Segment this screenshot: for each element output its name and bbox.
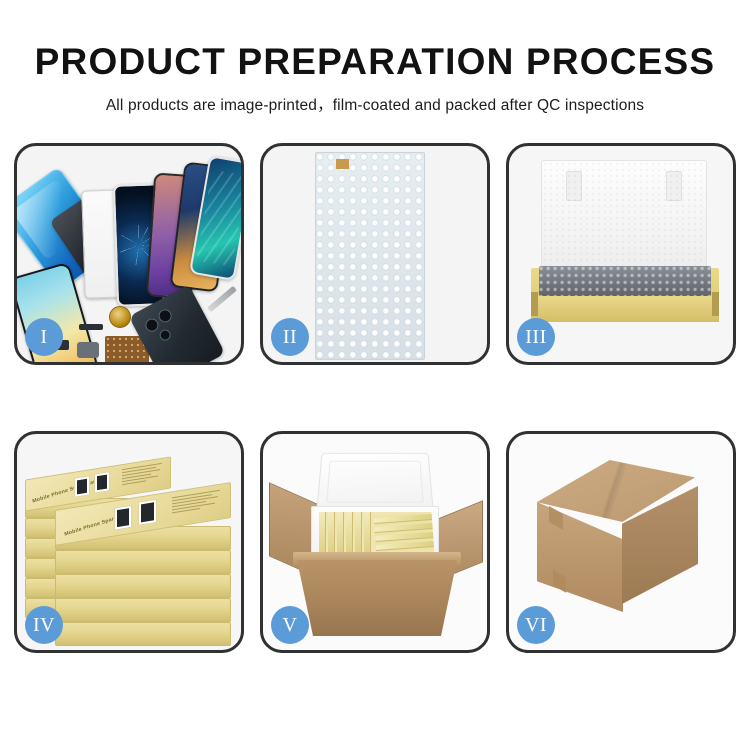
stacked-box [55,574,231,598]
step-badge-2: II [271,318,309,356]
process-step-card-3: III [506,143,736,365]
page-subtitle: All products are image-printed，film-coat… [0,93,750,115]
process-step-grid: I II [14,143,736,675]
header: PRODUCT PREPARATION PROCESS All products… [0,0,750,115]
styrofoam-lid [316,453,434,512]
step-badge-6: VI [517,606,555,644]
small-part [79,324,103,330]
bubble-wrap-bag [315,152,425,360]
small-part [77,342,99,358]
seal-tape [336,159,349,169]
page-title: PRODUCT PREPARATION PROCESS [0,43,750,82]
process-step-card-4: Mobile Phone Spare Parts [14,431,244,653]
process-step-card-2: II [260,143,490,365]
inner-boxes-row-right [374,512,435,556]
step-badge-1: I [25,318,63,356]
step-badge-4: IV [25,606,63,644]
yellow-box-front [531,296,719,322]
bubble-padding-fill [539,266,711,296]
carton-body [297,560,457,636]
process-step-card-1: I [14,143,244,365]
box-corner-right [712,292,719,316]
speaker-coil-part [109,306,131,328]
step-badge-3: III [517,318,555,356]
lid-tab-left [566,171,582,201]
foam-lid-panel [541,160,707,278]
stacked-box [55,622,231,646]
step-badge-5: V [271,606,309,644]
stacked-box [55,598,231,622]
lid-tab-right [666,171,682,201]
product-preparation-infographic: PRODUCT PREPARATION PROCESS All products… [0,0,750,750]
stacked-box [55,550,231,574]
box-corner-left [531,292,538,316]
process-step-card-6: VI [506,431,736,653]
process-step-card-5: V [260,431,490,653]
box-print-label-rear: Mobile Phone Spare Parts [32,477,101,504]
